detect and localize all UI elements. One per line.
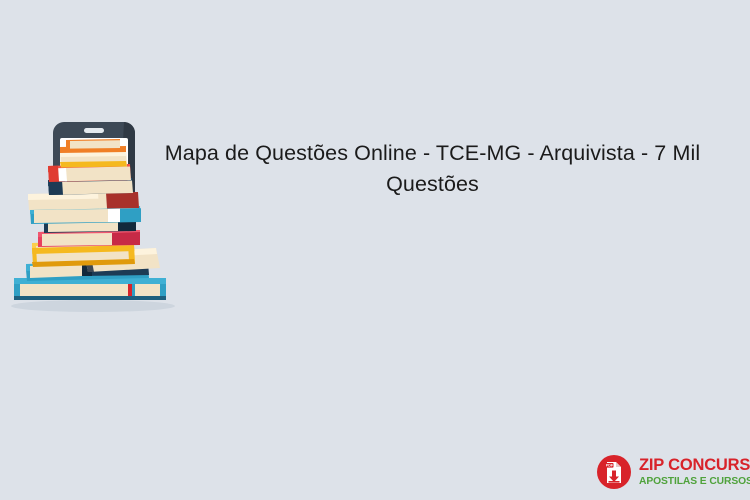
book-bottom-teal [14,278,166,300]
logo-brand-name: ZIP CONCURSOS [639,457,750,474]
svg-text:PDF: PDF [606,464,614,468]
book-orange-top [60,146,127,168]
logo-tagline: APOSTILAS E CURSOS [639,477,750,487]
page-title: Mapa de Questões Online - TCE-MG - Arqui… [155,138,710,200]
book-top-small [66,139,120,149]
book-darkred [28,192,139,210]
stack-of-books-with-tablet-illustration [8,118,178,318]
zip-concursos-logo[interactable]: PDF ZIP CONCURSOS APOSTILAS E CURSOS [596,450,742,494]
pdf-download-circle-icon: PDF [596,454,632,490]
logo-text-block: ZIP CONCURSOS APOSTILAS E CURSOS [639,457,750,487]
promo-banner: Mapa de Questões Online - TCE-MG - Arqui… [0,0,750,500]
